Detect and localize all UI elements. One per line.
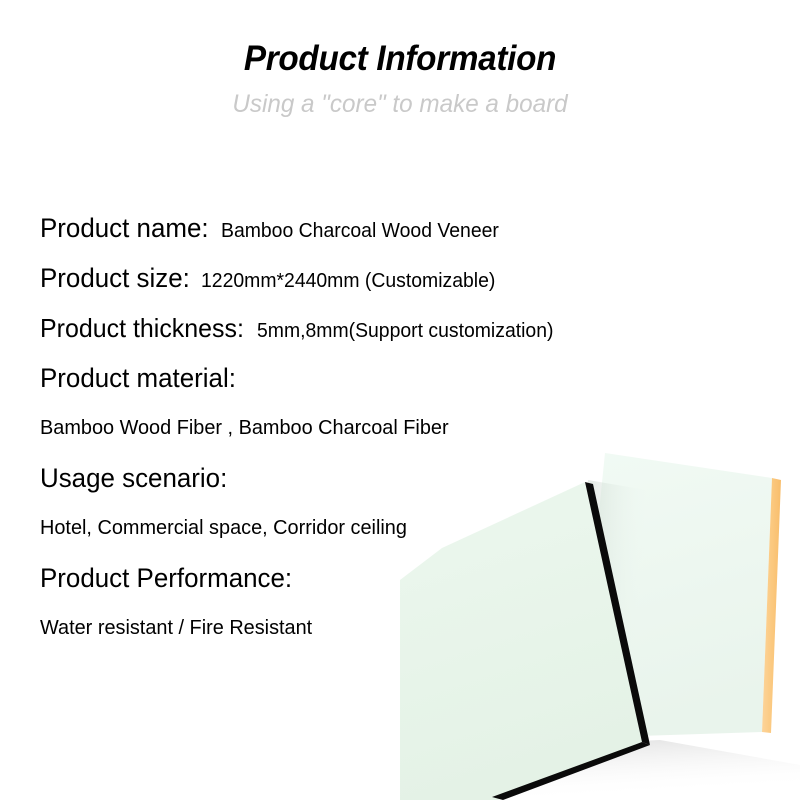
page-title: Product Information bbox=[20, 0, 780, 80]
product-spec-list: Product name:Bamboo Charcoal Wood Veneer… bbox=[40, 203, 680, 653]
spec-value-product-performance: Water resistant / Fire Resistant bbox=[40, 603, 312, 653]
spec-row-product-thickness: Product thickness:5mm,8mm(Support custom… bbox=[40, 303, 680, 353]
spec-label-product-size: Product size: bbox=[40, 253, 190, 303]
spec-row-product-size: Product size:1220mm*2440mm (Customizable… bbox=[40, 253, 680, 303]
spec-row-usage-scenario: Usage scenario: bbox=[40, 453, 680, 503]
spec-value-product-thickness: 5mm,8mm(Support customization) bbox=[257, 306, 553, 356]
back-board-orange-edge bbox=[762, 478, 781, 733]
spec-row-product-material: Product material: bbox=[40, 353, 680, 403]
front-board-bottom-edge bbox=[492, 742, 650, 800]
spec-row-product-name: Product name:Bamboo Charcoal Wood Veneer bbox=[40, 203, 680, 253]
spec-value-product-name: Bamboo Charcoal Wood Veneer bbox=[221, 206, 499, 256]
spec-label-product-name: Product name: bbox=[40, 203, 209, 253]
spec-label-product-performance: Product Performance: bbox=[40, 553, 292, 603]
spec-label-product-thickness: Product thickness: bbox=[40, 303, 244, 353]
product-information-page: Product Information Using a "core" to ma… bbox=[0, 0, 800, 800]
page-header: Product Information Using a "core" to ma… bbox=[0, 0, 800, 119]
spec-value-usage-scenario: Hotel, Commercial space, Corridor ceilin… bbox=[40, 503, 407, 553]
spec-value-product-size: 1220mm*2440mm (Customizable) bbox=[201, 256, 495, 306]
spec-row-product-material-value: Bamboo Wood Fiber , Bamboo Charcoal Fibe… bbox=[40, 403, 680, 453]
spec-row-usage-scenario-value: Hotel, Commercial space, Corridor ceilin… bbox=[40, 503, 680, 553]
spec-row-product-performance-value: Water resistant / Fire Resistant bbox=[40, 603, 680, 653]
spec-row-product-performance: Product Performance: bbox=[40, 553, 680, 603]
spec-label-usage-scenario: Usage scenario: bbox=[40, 453, 227, 503]
spec-label-product-material: Product material: bbox=[40, 353, 236, 403]
page-subtitle: Using a "core" to make a board bbox=[12, 80, 788, 119]
board-drop-shadow bbox=[430, 740, 800, 800]
spec-value-product-material: Bamboo Wood Fiber , Bamboo Charcoal Fibe… bbox=[40, 403, 449, 453]
